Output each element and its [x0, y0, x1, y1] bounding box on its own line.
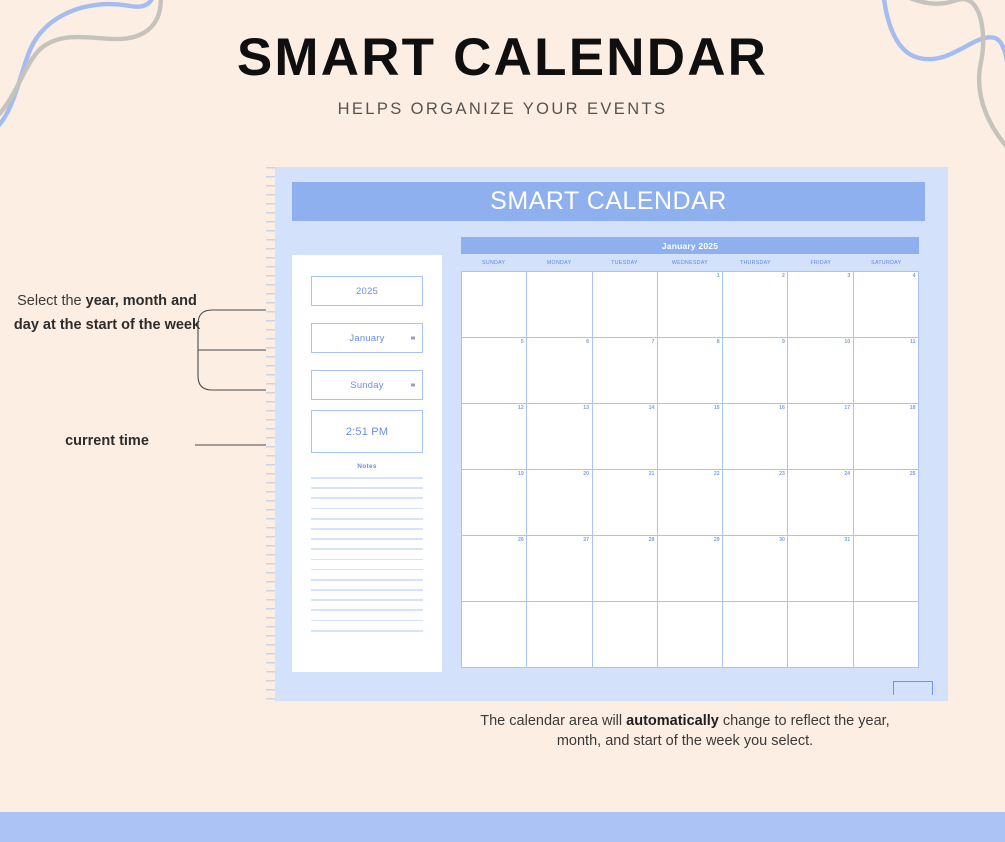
footer-caption: The calendar area will automatically cha… — [460, 712, 910, 751]
day-cell[interactable] — [854, 602, 919, 668]
day-cell[interactable]: 10 — [788, 338, 853, 404]
day-cell[interactable]: 6 — [527, 338, 592, 404]
notes-lines-area[interactable] — [311, 477, 423, 640]
notes-line — [311, 528, 423, 530]
day-cell[interactable]: 11 — [854, 338, 919, 404]
day-number: 8 — [717, 339, 720, 345]
day-number: 15 — [714, 405, 720, 411]
day-cell[interactable]: 29 — [658, 536, 723, 602]
day-number: 10 — [844, 339, 850, 345]
notes-line — [311, 508, 423, 510]
document-canvas: SMART CALENDAR 2025 January Sunday 2:51 … — [275, 167, 948, 701]
week-start-day-value: Sunday — [350, 380, 383, 391]
day-cell[interactable]: 28 — [593, 536, 658, 602]
day-cell[interactable]: 26 — [462, 536, 527, 602]
caption-part1: The calendar area will — [480, 713, 626, 729]
day-cell[interactable] — [462, 272, 527, 338]
day-number: 16 — [779, 405, 785, 411]
day-cell[interactable] — [527, 602, 592, 668]
notes-line — [311, 569, 423, 571]
notes-line — [311, 579, 423, 581]
day-cell[interactable]: 18 — [854, 404, 919, 470]
day-number: 4 — [913, 273, 916, 279]
year-value: 2025 — [356, 286, 378, 297]
day-cell[interactable]: 4 — [854, 272, 919, 338]
chevron-down-icon — [411, 384, 415, 387]
day-number: 25 — [910, 471, 916, 477]
month-selector[interactable]: January — [311, 323, 423, 353]
chevron-down-icon — [411, 337, 415, 340]
day-cell[interactable] — [593, 602, 658, 668]
day-cell[interactable]: 13 — [527, 404, 592, 470]
day-cell[interactable]: 9 — [723, 338, 788, 404]
day-number: 13 — [583, 405, 589, 411]
day-number: 24 — [844, 471, 850, 477]
day-number: 31 — [844, 537, 850, 543]
notes-line — [311, 620, 423, 622]
day-number: 27 — [583, 537, 589, 543]
caption-bold: automatically — [626, 713, 719, 729]
day-cell[interactable] — [462, 602, 527, 668]
day-number: 14 — [649, 405, 655, 411]
day-grid: 1234567891011121314151617181920212223242… — [461, 271, 919, 668]
day-cell[interactable]: 21 — [593, 470, 658, 536]
day-cell[interactable]: 2 — [723, 272, 788, 338]
day-cell[interactable]: 31 — [788, 536, 853, 602]
document-ruler — [266, 167, 275, 701]
day-cell[interactable] — [593, 272, 658, 338]
notes-line — [311, 487, 423, 489]
year-selector[interactable]: 2025 — [311, 276, 423, 306]
day-cell[interactable]: 27 — [527, 536, 592, 602]
notes-line — [311, 518, 423, 520]
control-side-panel: 2025 January Sunday 2:51 PM Notes — [292, 255, 442, 672]
weekday-header-4: THURSDAY — [723, 260, 788, 266]
week-start-day-selector[interactable]: Sunday — [311, 370, 423, 400]
weekday-header-row: SUNDAYMONDAYTUESDAYWEDNESDAYTHURSDAYFRID… — [461, 254, 919, 271]
day-number: 2 — [782, 273, 785, 279]
day-cell[interactable]: 25 — [854, 470, 919, 536]
day-cell[interactable]: 24 — [788, 470, 853, 536]
day-number: 18 — [910, 405, 916, 411]
notes-line — [311, 477, 423, 479]
current-time-display: 2:51 PM — [311, 410, 423, 453]
notes-line — [311, 599, 423, 601]
day-cell[interactable]: 7 — [593, 338, 658, 404]
weekday-header-2: TUESDAY — [592, 260, 657, 266]
calendar-banner: SMART CALENDAR — [292, 182, 925, 221]
notes-line — [311, 589, 423, 591]
weekday-header-0: SUNDAY — [461, 260, 526, 266]
bottom-color-strip — [0, 812, 1005, 842]
page-title: SMART CALENDAR — [0, 30, 1005, 86]
day-number: 6 — [586, 339, 589, 345]
page-subtitle: HELPS ORGANIZE YOUR EVENTS — [0, 100, 1005, 119]
annotation-time-note: current time — [12, 433, 202, 449]
day-cell[interactable]: 3 — [788, 272, 853, 338]
day-cell[interactable]: 16 — [723, 404, 788, 470]
calendar-area: January 2025 SUNDAYMONDAYTUESDAYWEDNESDA… — [461, 237, 925, 672]
weekday-header-6: SATURDAY — [854, 260, 919, 266]
day-number: 12 — [518, 405, 524, 411]
day-cell[interactable]: 1 — [658, 272, 723, 338]
day-cell[interactable]: 12 — [462, 404, 527, 470]
current-time-value: 2:51 PM — [346, 426, 388, 438]
day-number: 7 — [651, 339, 654, 345]
heading-block: SMART CALENDAR HELPS ORGANIZE YOUR EVENT… — [0, 30, 1005, 119]
notes-line — [311, 497, 423, 499]
day-cell[interactable] — [788, 602, 853, 668]
day-number: 17 — [844, 405, 850, 411]
weekday-header-1: MONDAY — [526, 260, 591, 266]
day-cell[interactable]: 17 — [788, 404, 853, 470]
day-cell[interactable] — [527, 272, 592, 338]
day-cell[interactable]: 22 — [658, 470, 723, 536]
day-number: 22 — [714, 471, 720, 477]
day-number: 26 — [518, 537, 524, 543]
notes-line — [311, 548, 423, 550]
month-title: January 2025 — [662, 241, 718, 251]
day-number: 19 — [518, 471, 524, 477]
weekday-header-5: FRIDAY — [788, 260, 853, 266]
day-number: 9 — [782, 339, 785, 345]
notes-line — [311, 559, 423, 561]
day-cell[interactable] — [723, 602, 788, 668]
day-number: 20 — [583, 471, 589, 477]
day-number: 3 — [847, 273, 850, 279]
sheet-tab[interactable] — [893, 681, 933, 695]
day-cell[interactable] — [854, 536, 919, 602]
page-root: SMART CALENDAR HELPS ORGANIZE YOUR EVENT… — [0, 0, 1005, 842]
day-cell[interactable]: 30 — [723, 536, 788, 602]
annotation-select-prefix: Select the — [17, 293, 86, 309]
day-cell[interactable]: 23 — [723, 470, 788, 536]
day-cell[interactable]: 19 — [462, 470, 527, 536]
month-value: January — [349, 333, 384, 344]
day-cell[interactable] — [658, 602, 723, 668]
annotation-select-note: Select the year, month and day at the st… — [12, 290, 202, 337]
notes-line — [311, 609, 423, 611]
notes-line — [311, 630, 423, 632]
day-number: 29 — [714, 537, 720, 543]
notes-line — [311, 538, 423, 540]
day-number: 23 — [779, 471, 785, 477]
day-cell[interactable]: 8 — [658, 338, 723, 404]
spreadsheet-document: SMART CALENDAR 2025 January Sunday 2:51 … — [266, 167, 948, 701]
day-number: 21 — [649, 471, 655, 477]
day-cell[interactable]: 20 — [527, 470, 592, 536]
day-number: 5 — [521, 339, 524, 345]
month-title-bar: January 2025 — [461, 237, 919, 254]
day-number: 28 — [649, 537, 655, 543]
day-number: 11 — [910, 339, 915, 345]
day-number: 30 — [779, 537, 785, 543]
day-cell[interactable]: 15 — [658, 404, 723, 470]
day-cell[interactable]: 5 — [462, 338, 527, 404]
weekday-header-3: WEDNESDAY — [657, 260, 722, 266]
notes-title: Notes — [292, 463, 442, 470]
day-number: 1 — [717, 273, 720, 279]
day-cell[interactable]: 14 — [593, 404, 658, 470]
calendar-banner-title: SMART CALENDAR — [490, 187, 727, 216]
